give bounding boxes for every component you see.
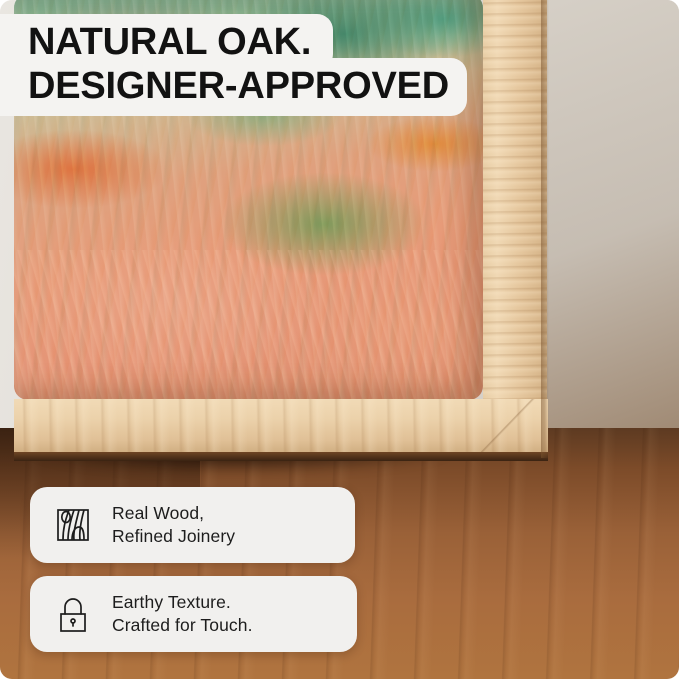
frame-bottom-edge-shadow [14,452,548,461]
lock-icon [52,593,94,635]
product-hero-image: NATURAL OAK. DESIGNER-APPROVED Real Wood… [0,0,679,679]
headline-line-2: DESIGNER-APPROVED [0,58,467,116]
feature-badge-label: Earthy Texture. Crafted for Touch. [112,591,253,637]
feature-badge-label: Real Wood, Refined Joinery [112,502,235,548]
frame-miter-joint [470,399,548,456]
feature-badge-earthy-texture: Earthy Texture. Crafted for Touch. [30,576,357,652]
wood-grain-icon [52,504,94,546]
frame-rail-right [483,0,547,452]
frame-right-edge-shadow [541,0,549,458]
feature-badge-real-wood: Real Wood, Refined Joinery [30,487,355,563]
frame-rail-bottom [14,399,548,455]
